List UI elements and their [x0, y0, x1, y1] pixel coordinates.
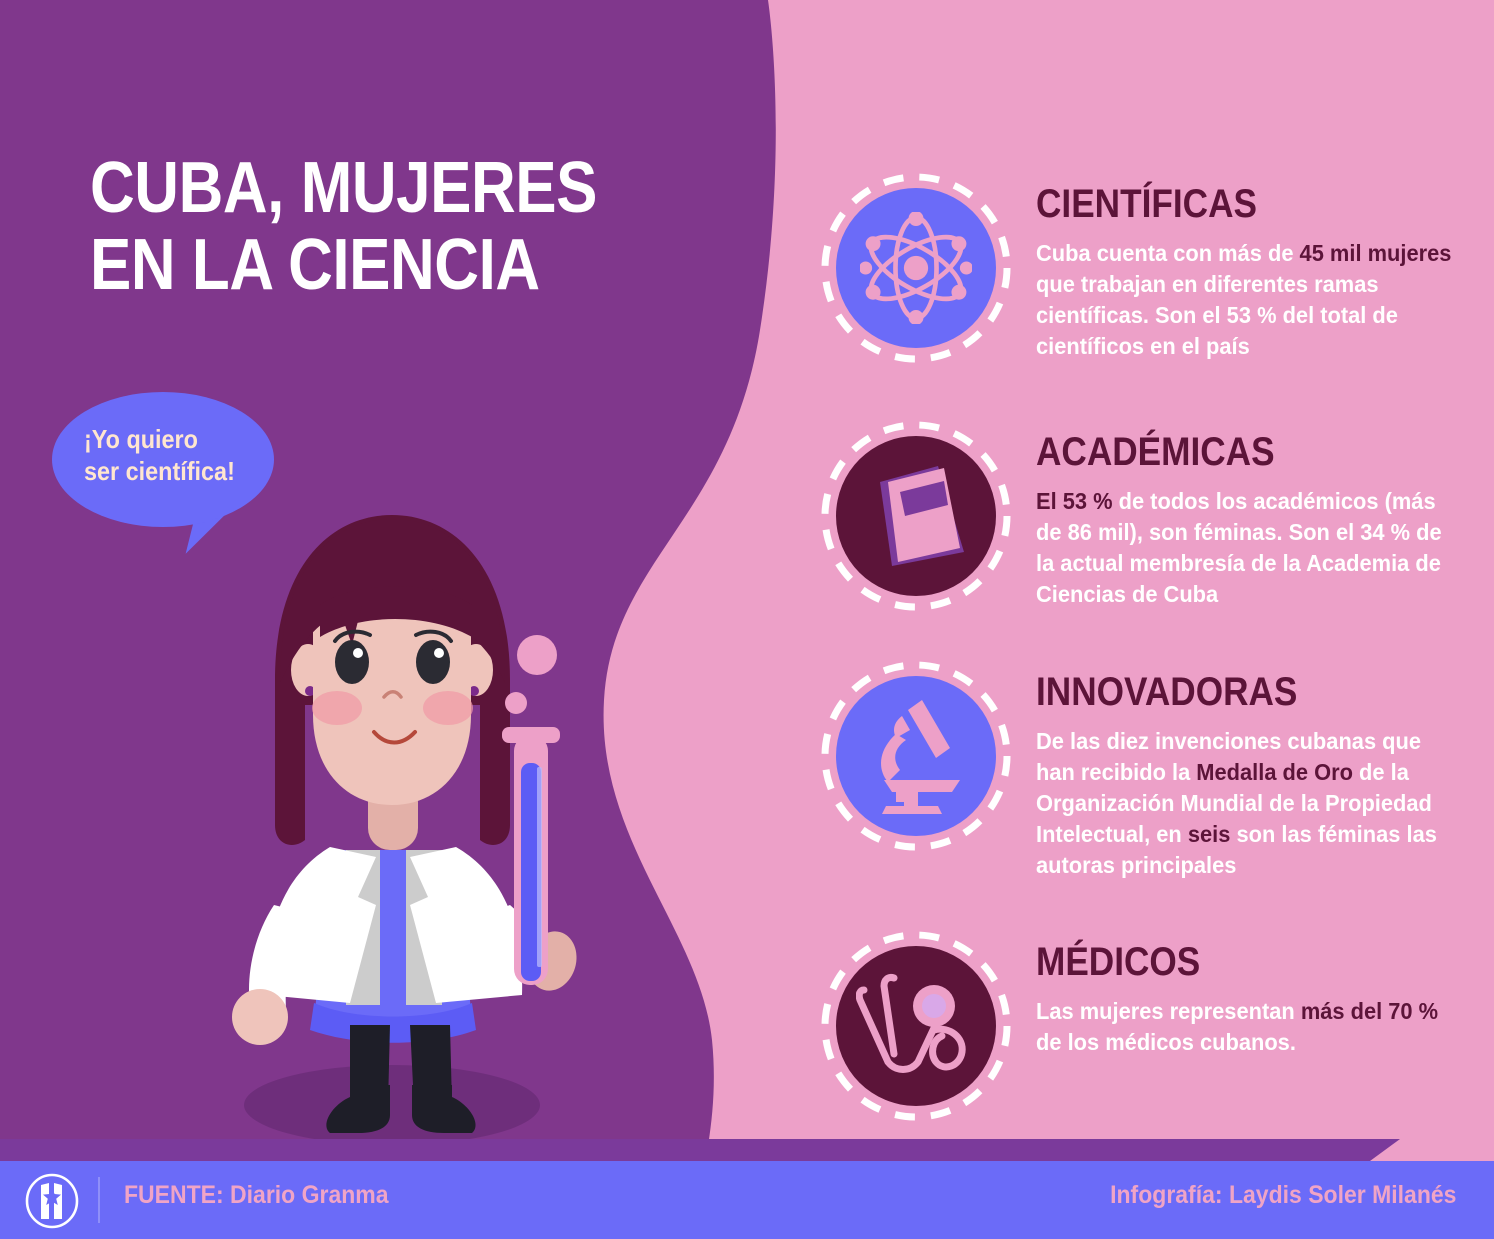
section-academicas: ACADÉMICAS El 53 % de todos los académic…: [818, 418, 1456, 614]
section-innovadoras: INNOVADORAS De las diez invenciones cuba…: [818, 658, 1456, 881]
highlighted-text: más del 70 %: [1301, 998, 1438, 1024]
highlighted-text: seis: [1188, 821, 1231, 847]
body-text: de los médicos cubanos.: [1036, 1029, 1296, 1055]
section-text-innovadoras: INNOVADORAS De las diez invenciones cuba…: [1036, 658, 1456, 881]
section-text-academicas: ACADÉMICAS El 53 % de todos los académic…: [1036, 418, 1456, 610]
section-cientificas: CIENTÍFICAS Cuba cuenta con más de 45 mi…: [818, 170, 1456, 366]
test-tube-shine: [537, 767, 542, 967]
girl-scientist-illustration: [180, 505, 610, 1165]
footer-slant-shape: [0, 1139, 1494, 1161]
microscope-icon: [866, 696, 970, 816]
bubble-small: [505, 692, 527, 714]
microscope-stage: [884, 780, 960, 792]
book-cover: [888, 468, 960, 562]
stethoscope-icon: [856, 970, 976, 1082]
floor-shadow: [244, 1065, 540, 1145]
microscope-arm: [881, 734, 906, 782]
section-heading: CIENTÍFICAS: [1036, 184, 1406, 224]
hand-left: [232, 989, 288, 1045]
eye-highlight-right: [434, 648, 444, 658]
section-body: De las diez invenciones cubanas que han …: [1036, 726, 1459, 881]
microscope-stem: [904, 790, 918, 806]
highlighted-text: El 53 %: [1036, 488, 1113, 514]
eye-highlight-left: [353, 648, 363, 658]
infographic-root: CUBA, MUJERES EN LA CIENCIA ¡Yo quiero s…: [0, 0, 1494, 1239]
footer-credit: Infografía: Laydis Soler Milanés: [1110, 1181, 1456, 1210]
speech-bubble-text: ¡Yo quiero ser científica!: [84, 424, 255, 487]
footer-source: FUENTE: Diario Granma: [124, 1181, 389, 1210]
section-medicos: MÉDICOS Las mujeres representan más del …: [818, 928, 1456, 1124]
section-heading: ACADÉMICAS: [1036, 432, 1406, 472]
eye-right: [416, 640, 450, 684]
microscope-base: [882, 806, 942, 814]
icon-badge-medicos: [818, 928, 1014, 1124]
section-text-medicos: MÉDICOS Las mujeres representan más del …: [1036, 928, 1456, 1058]
page-title: CUBA, MUJERES EN LA CIENCIA: [90, 150, 658, 304]
section-body: Las mujeres representan más del 70 % de …: [1036, 996, 1459, 1058]
test-tube-lip: [502, 727, 560, 743]
icon-badge-cientificas: [818, 170, 1014, 366]
book-icon: [864, 460, 972, 572]
section-body: El 53 % de todos los académicos (más de …: [1036, 486, 1459, 610]
body-text: Las mujeres representan: [1036, 998, 1301, 1024]
icon-badge-innovadoras: [818, 658, 1014, 854]
body-text: que trabajan en diferentes ramas científ…: [1036, 271, 1398, 359]
icon-badge-academicas: [818, 418, 1014, 614]
section-text-cientificas: CIENTÍFICAS Cuba cuenta con más de 45 mi…: [1036, 170, 1456, 362]
section-body: Cuba cuenta con más de 45 mil mujeres qu…: [1036, 238, 1459, 362]
cheek-right: [423, 691, 473, 725]
body-text: Cuba cuenta con más de: [1036, 240, 1300, 266]
footer-bar: FUENTE: Diario Granma Infografía: Laydis…: [0, 1161, 1494, 1239]
footer-divider: [98, 1177, 100, 1223]
atom-icon: [860, 212, 972, 324]
granma-logo-icon: [24, 1173, 80, 1229]
section-heading: MÉDICOS: [1036, 942, 1406, 982]
cheek-left: [312, 691, 362, 725]
stethoscope-diaphragm: [922, 994, 946, 1018]
section-heading: INNOVADORAS: [1036, 672, 1406, 712]
eye-left: [335, 640, 369, 684]
highlighted-text: Medalla de Oro: [1196, 759, 1353, 785]
highlighted-text: 45 mil mujeres: [1300, 240, 1452, 266]
bubble-large: [517, 635, 557, 675]
microscope-tube: [908, 700, 950, 758]
